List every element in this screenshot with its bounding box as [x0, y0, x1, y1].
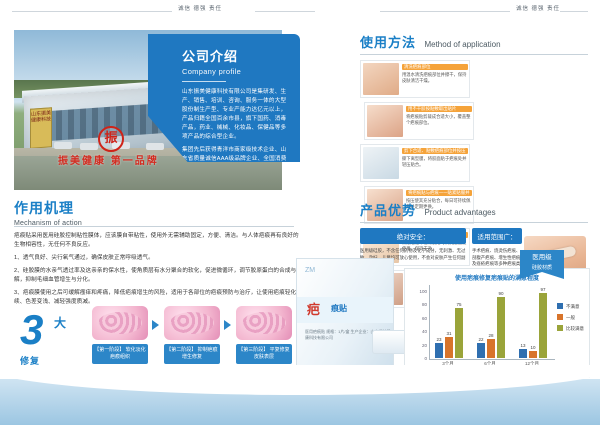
chart-legend-swatch	[557, 325, 563, 331]
usage-title-en: Method of application	[424, 40, 500, 49]
mechanism-heading: 作用机理 Mechanism of action	[14, 198, 82, 227]
chart-y-tick: 100	[407, 289, 427, 294]
usage-step-text: 将疤痕贴剪裁成合适大小，覆盖整个疤痕部位。	[406, 114, 472, 126]
mechanism-divider	[14, 226, 294, 227]
usage-step-text: 撕下离型膜，将胶面贴于疤痕处并轻压贴合。	[402, 156, 468, 168]
photo-company-emblem: 振	[98, 126, 124, 152]
header-rule-mid	[255, 11, 315, 12]
chart-bar-value: 90	[494, 291, 508, 296]
advantages-heading: 产品优势 Product advantages	[360, 200, 496, 220]
mechanism-body: 疤痕贴采用医用硅胶控制粘性膜体，应该膜自带粘性，使用外无需辅助固定，方便、清洁。…	[14, 232, 304, 311]
chart-bar	[539, 293, 547, 358]
chart-bar-value: 10	[526, 345, 540, 350]
stage-illustration	[236, 306, 292, 340]
chart-legend-item: 比较满意	[557, 325, 584, 332]
chart-bar	[445, 337, 453, 358]
header-rule-far-right	[560, 11, 588, 12]
advantages-divider	[360, 222, 588, 223]
chart-bar-group: 233175	[435, 284, 469, 358]
usage-step-photo	[363, 147, 399, 179]
stage-illustration	[164, 306, 220, 340]
chart-bar	[435, 343, 443, 358]
product-logo: ZM	[305, 267, 315, 274]
chart-legend-swatch	[557, 303, 563, 309]
stage-caption: 【第三阶段】 平复修复皮肤表层	[236, 344, 292, 364]
usage-step-card: 用不干胶按贴敷取出贴片 将疤痕贴剪裁成合适大小，覆盖整个疤痕部位。	[364, 102, 474, 140]
chart-x-axis	[429, 359, 555, 360]
chart-legend-label: 不满意	[566, 304, 580, 309]
mechanism-paragraph: 2、硅胶膜的水亲气透过率及这亲亲的保水性，使角质层有水分聚合的软化，促进微循环，…	[14, 267, 304, 285]
photo-vertical-sign: 山东振美健康科技	[30, 107, 52, 149]
usage-step-photo	[363, 63, 399, 95]
usage-step-card: 清洗疤痕部位 用温水清洗疤痕部位并擦干，保持皮肤清洁干燥。	[360, 60, 470, 98]
top-header-bar: 诚信 德强 责任 诚信 德强 责任	[0, 0, 600, 22]
chart-legend-label: 比较满意	[566, 326, 584, 331]
header-slogan-left: 诚信 德强 责任	[178, 4, 222, 12]
chart-y-tick: 20	[407, 343, 427, 348]
chart-bar-value: 28	[484, 333, 498, 338]
usage-step-photo	[367, 105, 403, 137]
mechanism-paragraph: 疤痕贴采用医用硅胶控制粘性膜体，应该膜自带粘性，使用外无需辅助固定，方便、清洁。…	[14, 232, 304, 250]
header-slogan-right: 诚信 德强 责任	[516, 4, 560, 12]
mechanism-paragraph: 3、疤痕膜使用之后可缓解瘙痒和疼痛，降低疤痕增生的风险，适用于各部位的疤痕预防与…	[14, 289, 304, 307]
stage-card: 【第二阶段】 抑制疤痕增生修复	[164, 306, 220, 364]
bottom-wave-decoration	[0, 379, 600, 425]
brochure-page: 诚信 德强 责任 诚信 德强 责任 山东振美健康科技 振 振美健康 第一品牌 公…	[0, 0, 600, 425]
chart-bar-value: 97	[536, 287, 550, 292]
usage-step-band: 清洗疤痕部位	[402, 64, 468, 70]
stage-card: 【第一阶段】 软化淡化疤痕组织	[92, 306, 148, 364]
photo-wall-text: 振美健康 第一品牌	[58, 152, 159, 167]
advantage-card-title: 适用范围广：	[472, 228, 522, 244]
usage-step-band: 将疤痕贴与疤痕一一贴紧贴服并按压2分钟以上	[406, 190, 472, 196]
stage-arrow-icon	[224, 320, 231, 330]
company-profile-paragraph: 山东振美健康科技有限公司是集研发、生产、销售、培训、咨询、服务一体的大型股份制生…	[182, 88, 288, 142]
chart-plot-area: 020406080100 233175222890131097 3个月6个月12…	[429, 285, 555, 359]
chart-y-tick: 40	[407, 329, 427, 334]
stage-arrow-icon	[152, 320, 159, 330]
usage-step-text: 用温水清洗疤痕部位并擦干，保持皮肤清洁干燥。	[402, 72, 468, 84]
photo-car	[54, 142, 72, 149]
chart-y-axis	[429, 285, 430, 359]
chart-legend-label: 一般	[566, 315, 575, 320]
company-profile-subtitle: Company profile	[182, 67, 288, 76]
chart-bar	[487, 339, 495, 358]
three-stage-number: 3	[20, 310, 43, 350]
chart-bar-group: 131097	[519, 284, 553, 358]
chart-bar-group: 222890	[477, 284, 511, 358]
photo-car	[146, 143, 164, 150]
ribbon-line1: 医用级	[532, 254, 552, 261]
material-ribbon-badge: 医用级 硅胶材质	[520, 250, 564, 272]
usage-divider	[360, 54, 588, 55]
chart-legend-item: 一般	[557, 314, 584, 321]
usage-step-card: 剪下合适、贴敷疤痕部位并按压 撕下离型膜，将胶面贴于疤痕处并轻压贴合。	[360, 144, 470, 182]
company-profile-divider	[182, 81, 226, 82]
satisfaction-chart-panel: 使用疤痕修复疤痕贴的满意程度 020406080100 233175222890…	[404, 268, 590, 378]
stage-illustration	[92, 306, 148, 340]
chart-bar-value: 31	[442, 331, 456, 336]
chart-bar	[519, 349, 527, 358]
product-brand-cn: 疤	[307, 299, 320, 318]
chart-legend-item: 不满意	[557, 303, 584, 310]
chart-legend-swatch	[557, 314, 563, 320]
ribbon-line2: 硅胶材质	[520, 263, 564, 274]
stage-caption: 【第一阶段】 软化淡化疤痕组织	[92, 344, 148, 364]
usage-step-band: 用不干胶按贴敷取出贴片	[406, 106, 472, 112]
chart-y-tick: 0	[407, 356, 427, 361]
usage-title-cn: 使用方法	[360, 35, 416, 50]
usage-step-band: 剪下合适、贴敷疤痕部位并按压	[402, 148, 468, 154]
chart-bar-value: 75	[452, 302, 466, 307]
chart-bar-value: 23	[432, 337, 446, 342]
mechanism-title-cn: 作用机理	[14, 198, 82, 218]
photo-car	[80, 143, 98, 150]
stage-card: 【第三阶段】 平复修复皮肤表层	[236, 306, 292, 364]
chart-y-tick: 60	[407, 316, 427, 321]
advantage-card-title: 绝对安全：	[360, 228, 466, 244]
advantages-title-en: Product advantages	[424, 208, 495, 217]
chart-bar	[529, 351, 537, 358]
chart-legend: 不满意一般比较满意	[557, 303, 584, 336]
advantages-title-cn: 产品优势	[360, 203, 416, 218]
stage-caption: 【第二阶段】 抑制疤痕增生修复	[164, 344, 220, 364]
chart-bar	[455, 308, 463, 358]
chart-bar	[477, 343, 485, 358]
chart-y-tick: 80	[407, 302, 427, 307]
three-stage-badge: 3 大 修复原 理	[20, 310, 43, 350]
mechanism-paragraph: 1、透气良好、尖行氧气通过，确保皮肤正常呼吸透气。	[14, 254, 304, 263]
chart-bar	[497, 297, 505, 358]
product-brand-cn2: 痕贴	[331, 303, 347, 314]
usage-heading: 使用方法 Method of application	[360, 32, 501, 52]
three-stage-unit: 大	[54, 314, 66, 331]
header-rule-left	[12, 11, 172, 12]
header-rule-right	[380, 11, 510, 12]
company-profile-title: 公司介绍	[182, 46, 288, 65]
